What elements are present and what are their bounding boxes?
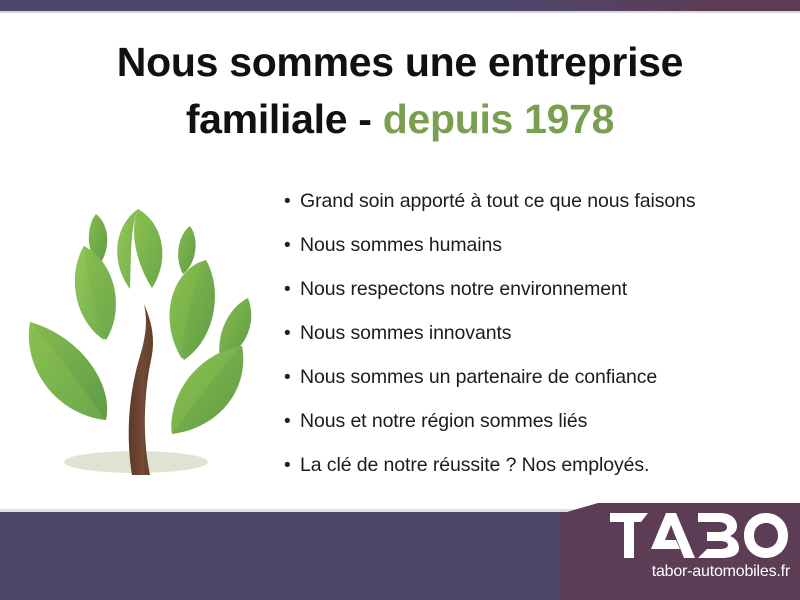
list-item-label: Nous sommes un partenaire de confiance <box>300 366 657 389</box>
list-item: • Grand soin apporté à tout ce que nous … <box>284 190 784 234</box>
brand-website-url: tabor-automobiles.fr <box>600 563 790 581</box>
list-item-label: La clé de notre réussite ? Nos employés. <box>300 454 649 477</box>
list-item-label: Nous sommes innovants <box>300 322 511 345</box>
tree-trunk <box>129 304 153 475</box>
top-accent-band <box>0 0 800 11</box>
list-item: • Nous respectons notre environnement <box>284 278 784 322</box>
list-item: • Nous sommes un partenaire de confiance <box>284 366 784 410</box>
page-title: Nous sommes une entreprise familiale - d… <box>40 34 760 147</box>
top-accent-band-edge <box>0 11 800 13</box>
bullet-marker-icon: • <box>284 280 300 299</box>
headline-accent-since-year: depuis 1978 <box>383 96 614 142</box>
list-item: • Nous sommes humains <box>284 234 784 278</box>
list-item-label: Nous et notre région sommes liés <box>300 410 587 433</box>
list-item: • Nous sommes innovants <box>284 322 784 366</box>
bullet-marker-icon: • <box>284 192 300 211</box>
slide-canvas: Nous sommes une entreprise familiale - d… <box>0 0 800 600</box>
leaf-top-center <box>134 209 162 288</box>
list-item: • La clé de notre réussite ? Nos employé… <box>284 454 784 498</box>
brand-wordmark <box>610 513 790 564</box>
list-item: • Nous et notre région sommes liés <box>284 410 784 454</box>
headline-line-2-plain: familiale - <box>186 96 372 142</box>
headline-line-2: familiale - depuis 1978 <box>40 91 760 148</box>
bullet-marker-icon: • <box>284 456 300 475</box>
bullet-marker-icon: • <box>284 368 300 387</box>
headline-line-1: Nous sommes une entreprise <box>117 39 683 85</box>
bullet-marker-icon: • <box>284 324 300 343</box>
value-bullet-list: • Grand soin apporté à tout ce que nous … <box>284 190 784 498</box>
bullet-marker-icon: • <box>284 236 300 255</box>
list-item-label: Grand soin apporté à tout ce que nous fa… <box>300 190 696 213</box>
list-item-label: Nous respectons notre environnement <box>300 278 627 301</box>
tree-illustration <box>14 188 272 488</box>
bullet-marker-icon: • <box>284 412 300 431</box>
list-item-label: Nous sommes humains <box>300 234 502 257</box>
